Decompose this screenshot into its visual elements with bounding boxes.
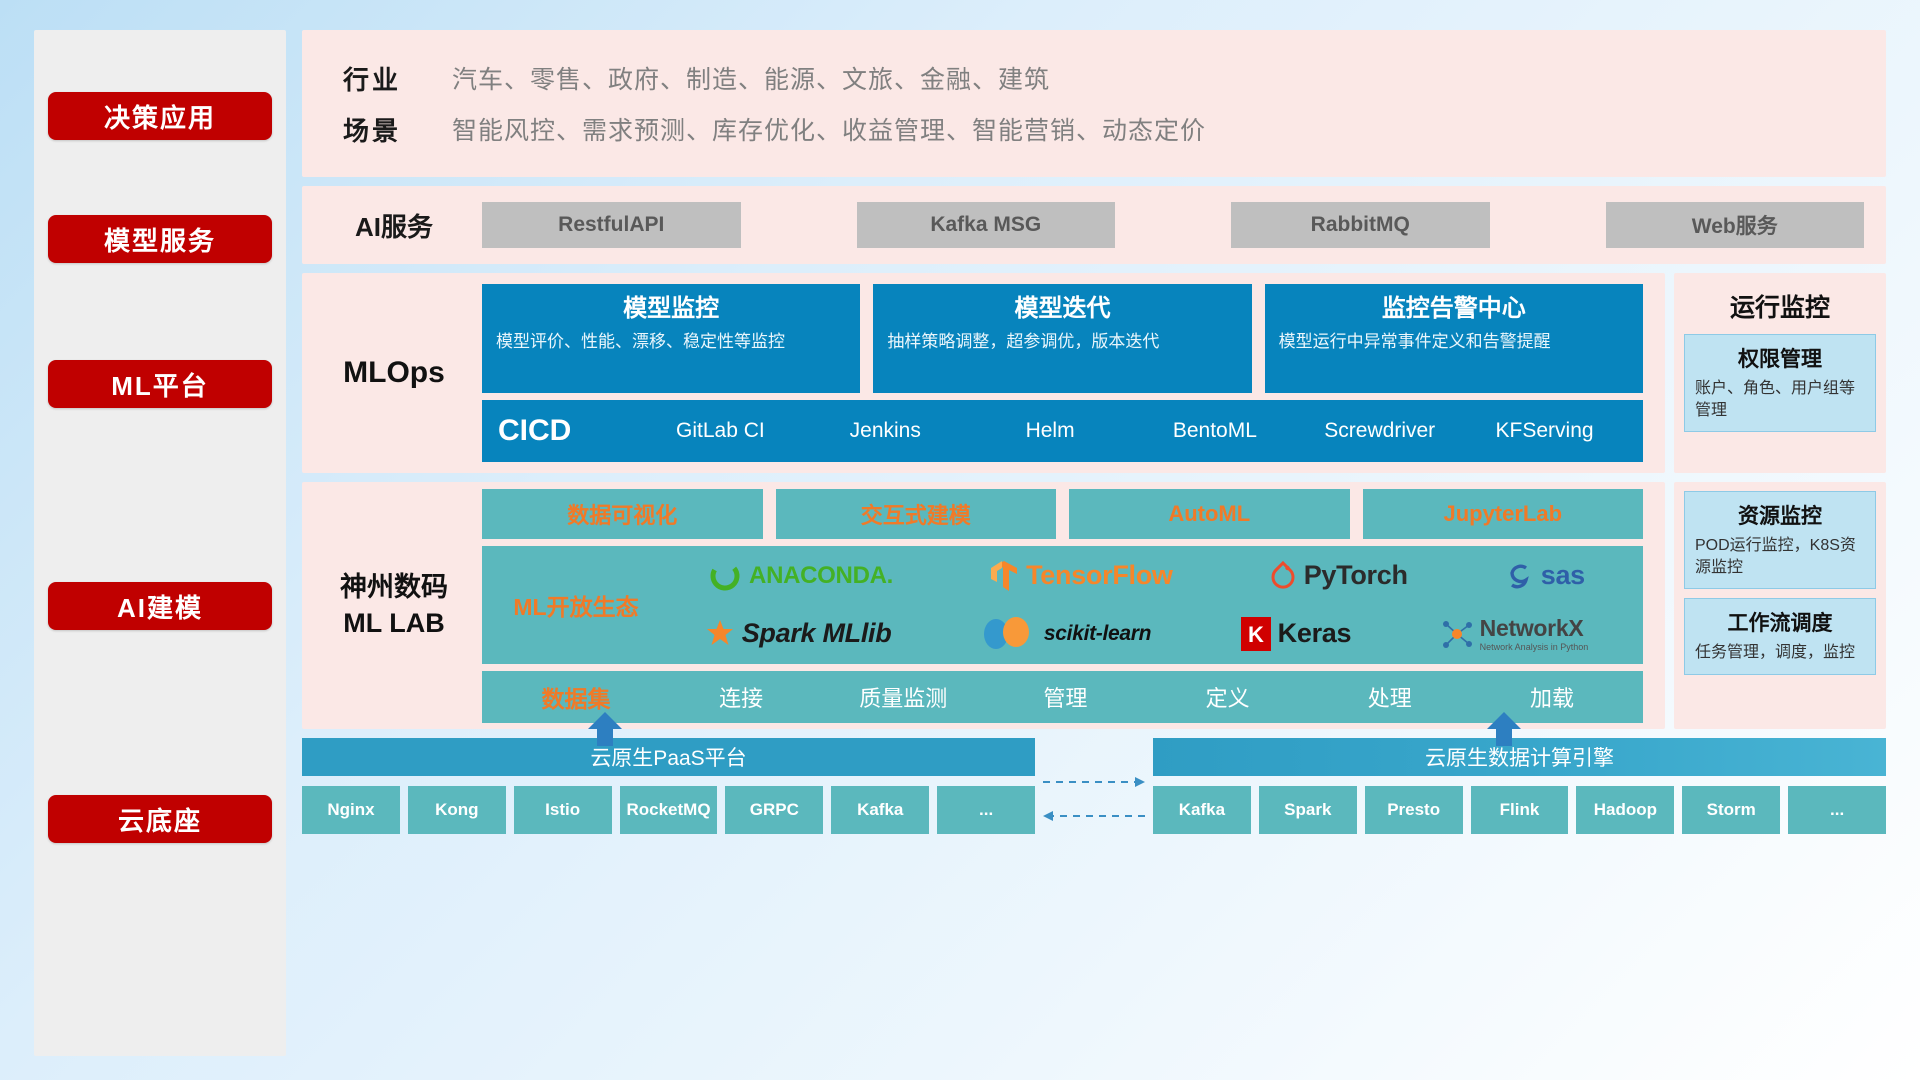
monitor-card-resource[interactable]: 资源监控 POD运行监控，K8S资源监控: [1684, 491, 1876, 589]
pytorch-icon: [1269, 560, 1297, 592]
monitor-card-desc: POD运行监控，K8S资源监控: [1695, 535, 1865, 578]
cicd-bar: CICD GitLab CI Jenkins Helm BentoML Scre…: [482, 400, 1643, 462]
rail-item-ml-platform[interactable]: ML平台: [48, 360, 272, 408]
cicd-item-list: GitLab CI Jenkins Helm BentoML Screwdriv…: [638, 420, 1627, 442]
ai-service-chip[interactable]: Web服务: [1606, 202, 1865, 248]
keras-wordmark: Keras: [1278, 618, 1352, 649]
ml-ecosystem-panel: ML开放生态 ANACONDA.: [482, 546, 1643, 664]
ml-lab-tool[interactable]: 数据可视化: [482, 489, 763, 539]
scikit-learn-wordmark: scikit-learn: [1044, 622, 1151, 646]
ai-service-chip-row: RestfulAPI Kafka MSG RabbitMQ Web服务: [464, 202, 1864, 248]
networkx-icon: [1441, 618, 1473, 650]
cicd-item[interactable]: Screwdriver: [1297, 420, 1462, 442]
mlops-content: 模型监控 模型评价、性能、漂移、稳定性等监控 模型迭代 抽样策略调整，超参调优，…: [464, 284, 1643, 462]
rail-item-cloud-base[interactable]: 云底座: [48, 795, 272, 843]
keras-logo: K Keras: [1241, 617, 1352, 651]
cloud-paas-column: 云原生PaaS平台 Nginx Kong Istio RocketMQ GRPC…: [302, 738, 1035, 890]
dataset-item[interactable]: 质量监测: [822, 681, 984, 713]
engine-chip[interactable]: Hadoop: [1576, 786, 1674, 834]
keras-icon: K: [1241, 617, 1271, 651]
cicd-item[interactable]: BentoML: [1132, 420, 1297, 442]
rail-label: 决策应用: [104, 98, 216, 135]
rail-label: 模型服务: [104, 221, 216, 258]
section-decision-application: 行业 汽车、零售、政府、制造、能源、文旅、金融、建筑 场景 智能风控、需求预测、…: [302, 30, 1886, 177]
ml-lab-content: 数据可视化 交互式建模 AutoML JupyterLab ML开放生态: [464, 489, 1643, 723]
paas-chip[interactable]: Kong: [408, 786, 506, 834]
monitor-card-desc: 任务管理，调度，监控: [1695, 642, 1865, 664]
section-runtime-monitor-bottom: 资源监控 POD运行监控，K8S资源监控 工作流调度 任务管理，调度，监控: [1674, 482, 1886, 729]
section-mlops: MLOps 模型监控 模型评价、性能、漂移、稳定性等监控 模型迭代 抽样策略调整…: [302, 273, 1665, 473]
dataset-item[interactable]: 定义: [1147, 681, 1309, 713]
engine-chip[interactable]: Storm: [1682, 786, 1780, 834]
industry-row: 行业 汽车、零售、政府、制造、能源、文旅、金融、建筑: [324, 60, 1864, 97]
layer-stack: 行业 汽车、零售、政府、制造、能源、文旅、金融、建筑 场景 智能风控、需求预测、…: [302, 30, 1886, 1056]
paas-chip[interactable]: ...: [937, 786, 1035, 834]
dataset-bar: 数据集 连接 质量监测 管理 定义 处理 加载: [482, 671, 1643, 723]
logo-row-2: Spark MLlib scikit-learn: [660, 607, 1633, 661]
mlops-card[interactable]: 模型监控 模型评价、性能、漂移、稳定性等监控: [482, 284, 860, 393]
ml-ecosystem-label: ML开放生态: [492, 588, 660, 622]
ai-service-label: AI服务: [324, 207, 464, 244]
monitor-card-workflow[interactable]: 工作流调度 任务管理，调度，监控: [1684, 598, 1876, 675]
paas-chip[interactable]: Nginx: [302, 786, 400, 834]
engine-chip[interactable]: Flink: [1471, 786, 1569, 834]
svg-text:K: K: [1248, 622, 1264, 647]
mlops-label: MLOps: [324, 356, 464, 390]
mlops-card-desc: 模型运行中异常事件定义和告警提醒: [1279, 331, 1629, 354]
arrow-up-paas-icon: [582, 712, 628, 746]
dataset-item[interactable]: 管理: [984, 681, 1146, 713]
paas-chip[interactable]: Kafka: [831, 786, 929, 834]
ai-service-chip[interactable]: RabbitMQ: [1231, 202, 1490, 248]
dataset-item[interactable]: 处理: [1309, 681, 1471, 713]
ml-lab-tool-list: 数据可视化 交互式建模 AutoML JupyterLab: [482, 489, 1643, 539]
tensorflow-icon: [989, 559, 1019, 593]
scikit-learn-icon: [981, 617, 1037, 651]
section-cloud-base: 云原生PaaS平台 Nginx Kong Istio RocketMQ GRPC…: [302, 738, 1886, 890]
engine-chip[interactable]: Spark: [1259, 786, 1357, 834]
cicd-title: CICD: [498, 414, 638, 448]
paas-chip[interactable]: Istio: [514, 786, 612, 834]
monitor-card-desc: 账户、角色、用户组等管理: [1695, 378, 1865, 421]
ml-lab-tool[interactable]: AutoML: [1069, 489, 1350, 539]
networkx-logo: NetworkX Network Analysis in Python: [1441, 615, 1589, 652]
ai-service-chip[interactable]: RestfulAPI: [482, 202, 741, 248]
cicd-item[interactable]: GitLab CI: [638, 420, 803, 442]
monitor-card-title: 权限管理: [1695, 343, 1865, 373]
monitor-card-title: 资源监控: [1695, 500, 1865, 530]
paas-chip[interactable]: GRPC: [725, 786, 823, 834]
architecture-diagram: 决策应用 模型服务 ML平台 AI建模 云底座 行业 汽车、零售、政府、制造、能…: [0, 0, 1920, 1080]
engine-chip-list: Kafka Spark Presto Flink Hadoop Storm ..…: [1153, 786, 1886, 834]
dashed-arrows-icon: [1035, 764, 1153, 864]
paas-bar: 云原生PaaS平台: [302, 738, 1035, 776]
dataset-item[interactable]: 连接: [660, 681, 822, 713]
scenario-row: 场景 智能风控、需求预测、库存优化、收益管理、智能营销、动态定价: [324, 111, 1864, 148]
anaconda-wordmark: ANACONDA.: [749, 562, 893, 590]
mlops-card-desc: 抽样策略调整，超参调优，版本迭代: [887, 331, 1237, 354]
mlops-card-desc: 模型评价、性能、漂移、稳定性等监控: [496, 331, 846, 354]
section-ml-lab: 神州数码 ML LAB 数据可视化 交互式建模 AutoML JupyterLa…: [302, 482, 1665, 729]
mlops-card-title: 模型监控: [496, 294, 846, 324]
ml-lab-label-line2: ML LAB: [324, 606, 464, 641]
paas-chip[interactable]: RocketMQ: [620, 786, 718, 834]
rail-label: 云底座: [118, 801, 202, 838]
spark-star-icon: [705, 619, 735, 649]
spark-wordmark: Spark MLlib: [742, 618, 892, 649]
logo-row-1: ANACONDA. TensorFlow: [660, 549, 1633, 603]
ml-lab-label: 神州数码 ML LAB: [324, 570, 464, 640]
scikit-learn-logo: scikit-learn: [981, 617, 1151, 651]
paas-chip-list: Nginx Kong Istio RocketMQ GRPC Kafka ...: [302, 786, 1035, 834]
dataset-item[interactable]: 加载: [1471, 681, 1633, 713]
anaconda-logo: ANACONDA.: [708, 559, 893, 593]
industry-value: 汽车、零售、政府、制造、能源、文旅、金融、建筑: [452, 60, 1050, 96]
monitor-card-title: 工作流调度: [1695, 607, 1865, 637]
engine-chip[interactable]: Kafka: [1153, 786, 1251, 834]
runtime-monitor-title: 运行监控: [1684, 282, 1876, 334]
networkx-wordmark-group: NetworkX Network Analysis in Python: [1480, 615, 1589, 652]
section-mlops-row: MLOps 模型监控 模型评价、性能、漂移、稳定性等监控 模型迭代 抽样策略调整…: [302, 273, 1886, 473]
dataset-label: 数据集: [492, 680, 660, 714]
tensorflow-wordmark: TensorFlow: [1026, 560, 1173, 591]
ml-lab-tool[interactable]: JupyterLab: [1363, 489, 1644, 539]
mlops-card-list: 模型监控 模型评价、性能、漂移、稳定性等监控 模型迭代 抽样策略调整，超参调优，…: [482, 284, 1643, 393]
pytorch-wordmark: PyTorch: [1304, 560, 1408, 591]
ml-ecosystem-logos: ANACONDA. TensorFlow: [660, 549, 1633, 661]
cicd-item[interactable]: Jenkins: [803, 420, 968, 442]
mlops-card[interactable]: 监控告警中心 模型运行中异常事件定义和告警提醒: [1265, 284, 1643, 393]
industry-label: 行业: [324, 60, 420, 97]
rail-item-ai-modeling[interactable]: AI建模: [48, 582, 272, 630]
section-lab-row: 神州数码 ML LAB 数据可视化 交互式建模 AutoML JupyterLa…: [302, 482, 1886, 729]
cicd-item[interactable]: KFServing: [1462, 420, 1627, 442]
ml-lab-label-line1: 神州数码: [324, 570, 464, 605]
mlops-card-title: 监控告警中心: [1279, 294, 1629, 324]
rail-item-model-service[interactable]: 模型服务: [48, 215, 272, 263]
anaconda-icon: [708, 559, 742, 593]
mlops-card[interactable]: 模型迭代 抽样策略调整，超参调优，版本迭代: [873, 284, 1251, 393]
monitor-card-permission[interactable]: 权限管理 账户、角色、用户组等管理: [1684, 334, 1876, 432]
cloud-connector: [1035, 738, 1153, 890]
cicd-item[interactable]: Helm: [968, 420, 1133, 442]
engine-chip[interactable]: ...: [1788, 786, 1886, 834]
mlops-card-title: 模型迭代: [887, 294, 1237, 324]
rail-item-decision[interactable]: 决策应用: [48, 92, 272, 140]
scenario-label: 场景: [324, 111, 420, 148]
section-ai-service: AI服务 RestfulAPI Kafka MSG RabbitMQ Web服务: [302, 186, 1886, 264]
networkx-wordmark: NetworkX: [1480, 615, 1584, 641]
dataset-item-list: 连接 质量监测 管理 定义 处理 加载: [660, 681, 1633, 713]
networkx-subtitle: Network Analysis in Python: [1480, 642, 1589, 652]
spark-mllib-logo: Spark MLlib: [705, 618, 892, 649]
ml-lab-tool[interactable]: 交互式建模: [776, 489, 1057, 539]
layer-rail: 决策应用 模型服务 ML平台 AI建模 云底座: [34, 30, 286, 1056]
rail-label: AI建模: [117, 588, 203, 625]
cloud-engine-column: 云原生数据计算引擎 Kafka Spark Presto Flink Hadoo…: [1153, 738, 1886, 890]
ai-service-chip[interactable]: Kafka MSG: [857, 202, 1116, 248]
sas-wordmark: sas: [1541, 560, 1585, 591]
tensorflow-logo: TensorFlow: [989, 559, 1173, 593]
rail-label: ML平台: [111, 366, 209, 403]
scenario-value: 智能风控、需求预测、库存优化、收益管理、智能营销、动态定价: [452, 111, 1206, 147]
arrow-up-engine-icon: [1481, 712, 1527, 746]
sas-icon: [1504, 561, 1534, 591]
engine-chip[interactable]: Presto: [1365, 786, 1463, 834]
sas-logo: sas: [1504, 560, 1585, 591]
pytorch-logo: PyTorch: [1269, 560, 1408, 592]
section-runtime-monitor-top: 运行监控 权限管理 账户、角色、用户组等管理: [1674, 273, 1886, 473]
